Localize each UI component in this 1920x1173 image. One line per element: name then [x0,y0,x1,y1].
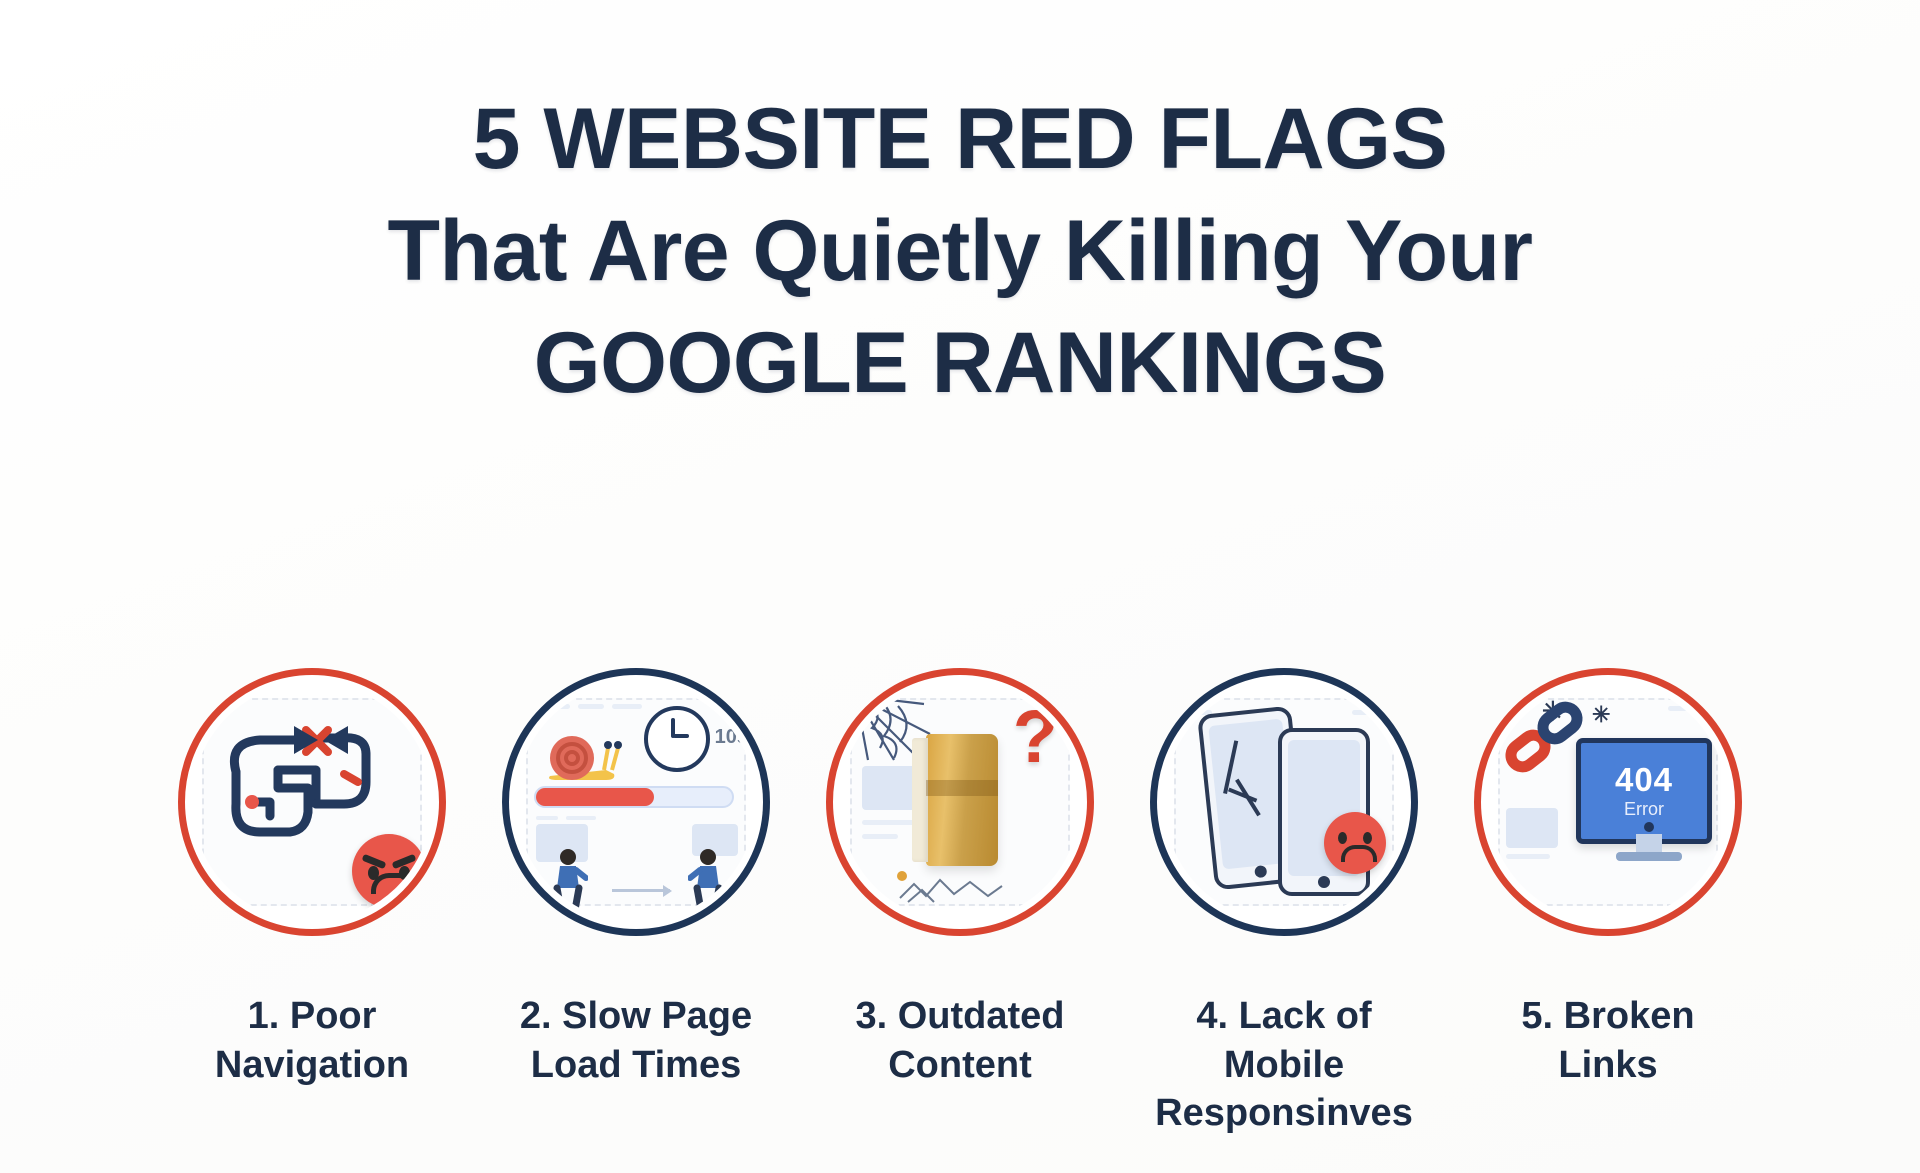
slow-page-load-icon: 10s [516,682,756,922]
monitor-stand-neck [1636,834,1662,852]
broken-links-404-icon: ✳ ✳ 404 Error [1488,682,1728,922]
decor-line [862,834,898,839]
list-item-label: 2. Slow Page Load Times [520,992,752,1089]
progress-fill [536,788,654,806]
icon-ring-1 [178,668,446,936]
list-item-label: 4. Lack of Mobile Responsinves [1155,992,1413,1138]
snail-icon [542,730,626,786]
red-flag-list: 1. Poor Navigation [0,668,1920,1138]
title-line-1: 5 WEBSITE RED FLAGS [0,96,1920,182]
sad-face-icon [1324,812,1386,874]
decor-line [578,704,604,709]
title-line-3: GOOGLE RANKINGS [0,320,1920,406]
decor-block [1506,808,1558,848]
page-title: 5 WEBSITE RED FLAGS That Are Quietly Kil… [0,96,1920,406]
monitor-stand-base [1616,852,1682,861]
spark-icon: ✳ [1592,702,1610,728]
list-item[interactable]: 1. Poor Navigation [177,668,447,1089]
old-book-icon [926,734,998,866]
tangled-maze-navigation-icon [192,682,432,922]
list-item-label: 3. Outdated Content [855,992,1064,1089]
timer-text: 10s [715,726,748,749]
walking-person-icon [548,848,588,912]
infographic-page: 5 WEBSITE RED FLAGS That Are Quietly Kil… [0,0,1920,1173]
direction-arrow-icon [612,889,670,892]
error-label-text: Error [1624,799,1664,820]
angry-face-icon [352,834,426,908]
list-item[interactable]: 4. Lack of Mobile Responsinves [1149,668,1419,1138]
decor-line [1506,854,1550,859]
maze-path-icon [216,712,386,862]
clock-icon [644,706,710,772]
title-line-2: That Are Quietly Killing Your [0,208,1920,294]
phone-home-button [1318,876,1330,888]
decor-line [1668,706,1708,711]
decor-block [862,766,918,810]
loading-progress-bar [534,786,734,808]
error-code-text: 404 [1615,763,1673,796]
list-item[interactable]: ✳ ✳ 404 Error 5. Broken Links [1473,668,1743,1089]
decor-line [612,704,642,709]
walking-person-icon [688,848,728,912]
decor-line [536,816,558,820]
decor-line [566,816,596,820]
icon-ring-5: ✳ ✳ 404 Error [1474,668,1742,936]
decor-line [1352,710,1386,715]
dust-debris-icon [896,870,1006,904]
phone-home-button [1254,865,1267,878]
book-band [926,780,998,796]
mobile-responsiveness-icon [1164,682,1404,922]
question-mark-icon: ? [1013,700,1058,774]
list-item-label: 5. Broken Links [1521,992,1694,1089]
outdated-content-book-icon: ? [840,682,1080,922]
decor-line [714,704,740,709]
icon-ring-2: 10s [502,668,770,936]
decor-line [536,704,570,709]
list-item[interactable]: 10s [501,668,771,1089]
icon-ring-4 [1150,668,1418,936]
icon-ring-3: ? [826,668,1094,936]
list-item-label: 1. Poor Navigation [215,992,409,1089]
decor-line [862,820,918,825]
monitor-indicator [1644,822,1654,832]
list-item[interactable]: ? 3. Outdated Content [825,668,1095,1089]
